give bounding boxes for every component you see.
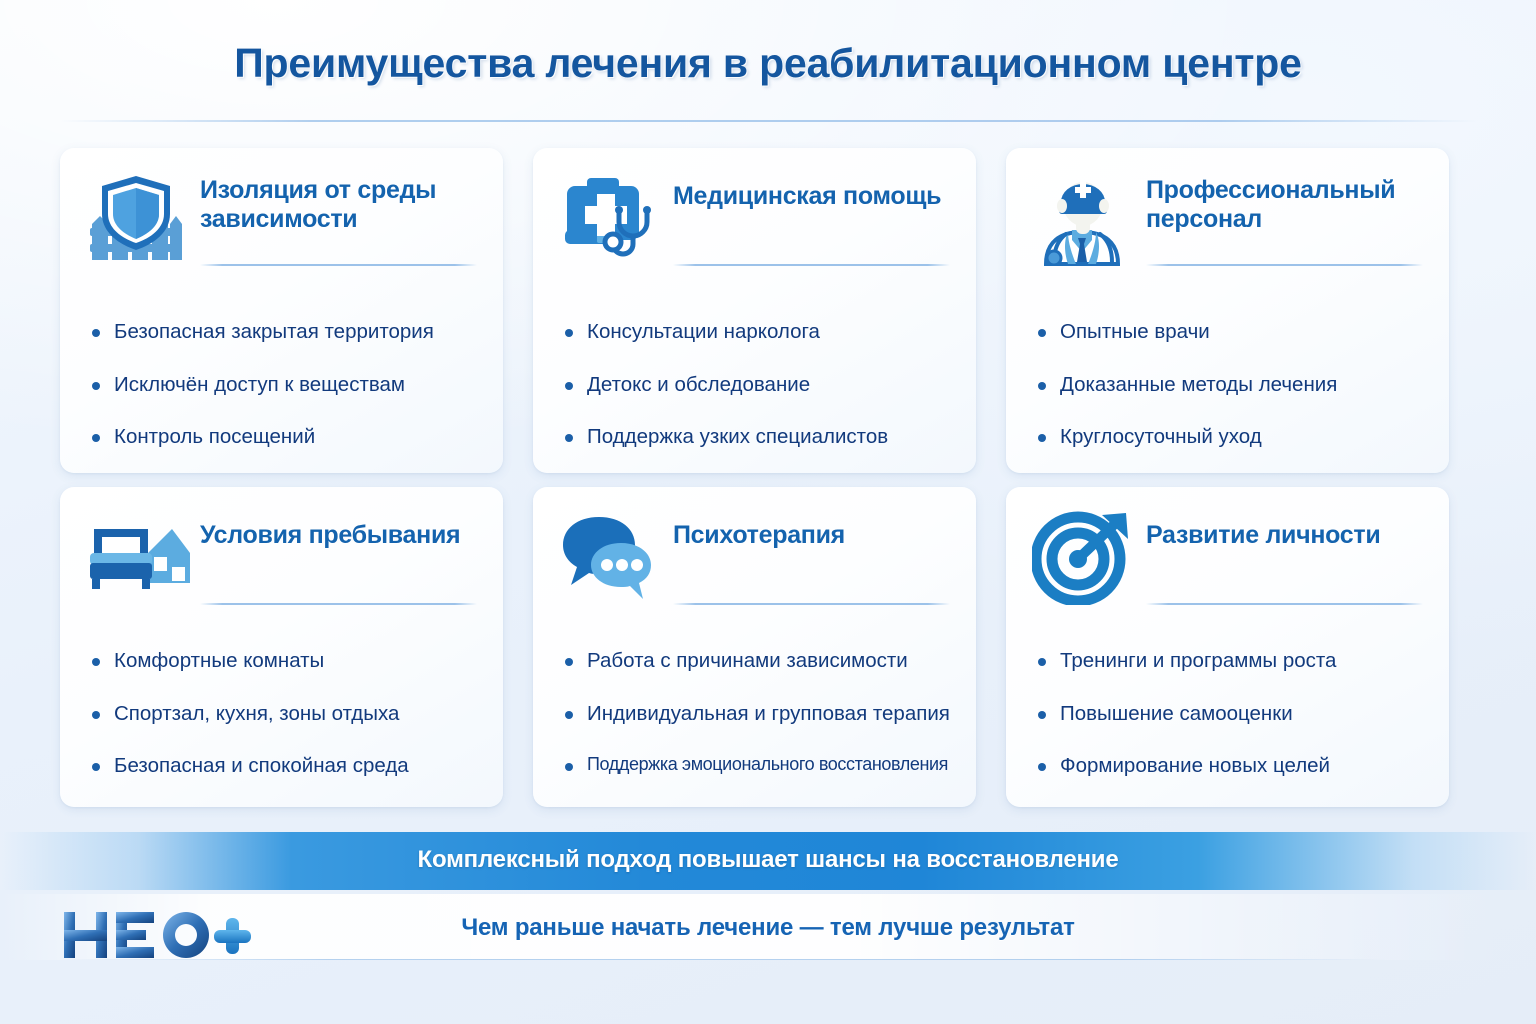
- list-item: Безопасная и спокойная среда: [86, 754, 477, 779]
- list-item: Контроль посещений: [86, 425, 477, 450]
- list-item: Повышение самооценки: [1032, 702, 1423, 727]
- list-item: Безопасная закрытая территория: [86, 320, 477, 345]
- list-item: Формирование новых целей: [1032, 754, 1423, 779]
- card-title: Изоляция от среды зависимости: [200, 170, 477, 234]
- list-item: Индивидуальная и групповая терапия: [559, 702, 950, 727]
- footer-tagline: Чем раньше начать лечение — тем лучше ре…: [0, 914, 1536, 942]
- title-divider: [200, 264, 477, 266]
- footer-banner-text: Комплексный подход повышает шансы на вос…: [0, 846, 1536, 874]
- list-item: Спортзал, кухня, зоны отдыха: [86, 702, 477, 727]
- title-divider: [673, 264, 950, 266]
- benefit-list: Комфортные комнаты Спортзал, кухня, зоны…: [86, 649, 477, 779]
- card-title: Профессиональный персонал: [1146, 170, 1423, 234]
- doctor-icon: [1032, 170, 1136, 266]
- card-title: Медицинская помощь: [673, 170, 941, 211]
- title-divider: [673, 603, 950, 605]
- benefit-list: Работа с причинами зависимости Индивидуа…: [559, 649, 950, 776]
- card-header: Профессиональный персонал: [1032, 170, 1423, 266]
- header: Преимущества лечения в реабилитационном …: [0, 0, 1536, 128]
- benefit-card-accommodation: Условия пребывания Комфортные комнаты Сп…: [60, 487, 503, 807]
- footer: Комплексный подход повышает шансы на вос…: [0, 824, 1536, 1024]
- infographic-page: Преимущества лечения в реабилитационном …: [0, 0, 1536, 1024]
- benefit-card-staff: Профессиональный персонал Опытные врачи …: [1006, 148, 1449, 473]
- list-item: Работа с причинами зависимости: [559, 649, 950, 674]
- speech-bubbles-icon: [559, 509, 663, 605]
- benefit-card-isolation: Изоляция от среды зависимости Безопасная…: [60, 148, 503, 473]
- list-item: Исключён доступ к веществам: [86, 373, 477, 398]
- list-item: Опытные врачи: [1032, 320, 1423, 345]
- card-title: Условия пребывания: [200, 509, 460, 550]
- card-header: Психотерапия: [559, 509, 950, 605]
- list-item: Детокс и обследование: [559, 373, 950, 398]
- card-header: Условия пребывания: [86, 509, 477, 605]
- card-header: Медицинская помощь: [559, 170, 950, 266]
- title-divider: [1146, 603, 1423, 605]
- card-title: Развитие личности: [1146, 509, 1380, 550]
- medical-bag-stethoscope-icon: [559, 170, 663, 266]
- benefit-list: Тренинги и программы роста Повышение сам…: [1032, 649, 1423, 779]
- title-divider: [200, 603, 477, 605]
- card-header: Развитие личности: [1032, 509, 1423, 605]
- benefit-card-psychotherapy: Психотерапия Работа с причинами зависимо…: [533, 487, 976, 807]
- benefits-grid: Изоляция от среды зависимости Безопасная…: [60, 148, 1476, 807]
- list-item: Комфортные комнаты: [86, 649, 477, 674]
- benefit-card-personal-growth: Развитие личности Тренинги и программы р…: [1006, 487, 1449, 807]
- list-item: Поддержка эмоционального восстановления: [559, 754, 950, 776]
- card-title: Психотерапия: [673, 509, 845, 550]
- bed-house-icon: [86, 509, 190, 605]
- title-divider: [1146, 264, 1423, 266]
- list-item: Консультации нарколога: [559, 320, 950, 345]
- benefit-list: Консультации нарколога Детокс и обследов…: [559, 320, 950, 450]
- list-item: Круглосуточный уход: [1032, 425, 1423, 450]
- header-divider: [60, 120, 1476, 122]
- target-arrow-icon: [1032, 509, 1136, 605]
- benefit-list: Безопасная закрытая территория Исключён …: [86, 320, 477, 450]
- list-item: Поддержка узких специалистов: [559, 425, 950, 450]
- benefit-list: Опытные врачи Доказанные методы лечения …: [1032, 320, 1423, 450]
- card-header: Изоляция от среды зависимости: [86, 170, 477, 266]
- list-item: Доказанные методы лечения: [1032, 373, 1423, 398]
- benefit-card-medical-help: Медицинская помощь Консультации нарколог…: [533, 148, 976, 473]
- shield-fence-icon: [86, 170, 190, 266]
- list-item: Тренинги и программы роста: [1032, 649, 1423, 674]
- page-title: Преимущества лечения в реабилитационном …: [0, 40, 1536, 87]
